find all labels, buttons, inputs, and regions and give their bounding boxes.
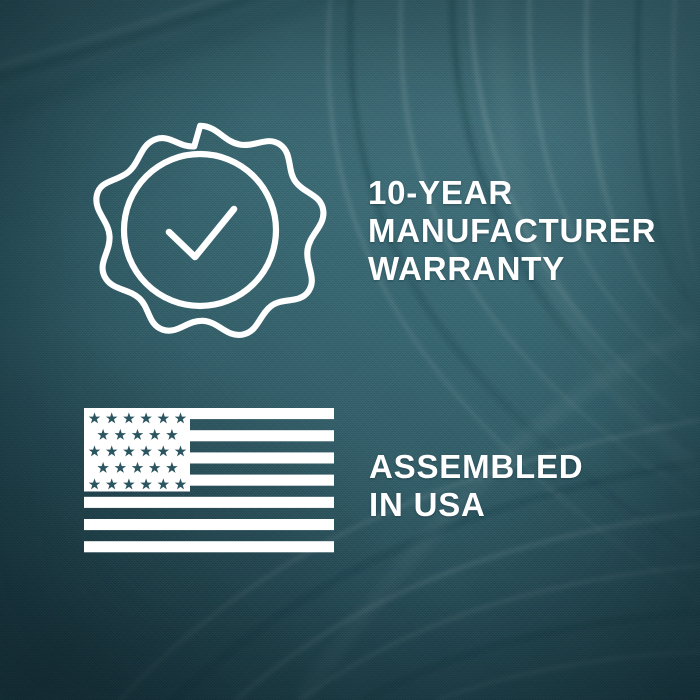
assembled-headline-line-2: IN USA <box>369 486 678 524</box>
feature-row-assembled-in-usa: ASSEMBLED IN USA <box>78 398 678 574</box>
warranty-text-slot: 10-YEAR MANUFACTURER WARRANTY <box>322 174 678 288</box>
warranty-headline: 10-YEAR MANUFACTURER WARRANTY <box>368 174 678 288</box>
check-badge-icon <box>78 110 322 352</box>
warranty-headline-line-1: 10-YEAR <box>368 174 678 212</box>
trust-badge-banner: 10-YEAR MANUFACTURER WARRANTY <box>0 0 700 700</box>
warranty-headline-line-2: MANUFACTURER <box>368 212 678 250</box>
usa-flag-icon <box>84 408 334 564</box>
feature-row-warranty: 10-YEAR MANUFACTURER WARRANTY <box>78 110 678 352</box>
check-badge-icon-slot <box>78 110 322 352</box>
assembled-headline: ASSEMBLED IN USA <box>369 448 678 524</box>
assembled-headline-line-1: ASSEMBLED <box>369 448 678 486</box>
usa-flag-icon-slot <box>78 398 340 574</box>
assembled-text-slot: ASSEMBLED IN USA <box>340 448 678 524</box>
warranty-headline-line-3: WARRANTY <box>368 250 678 288</box>
